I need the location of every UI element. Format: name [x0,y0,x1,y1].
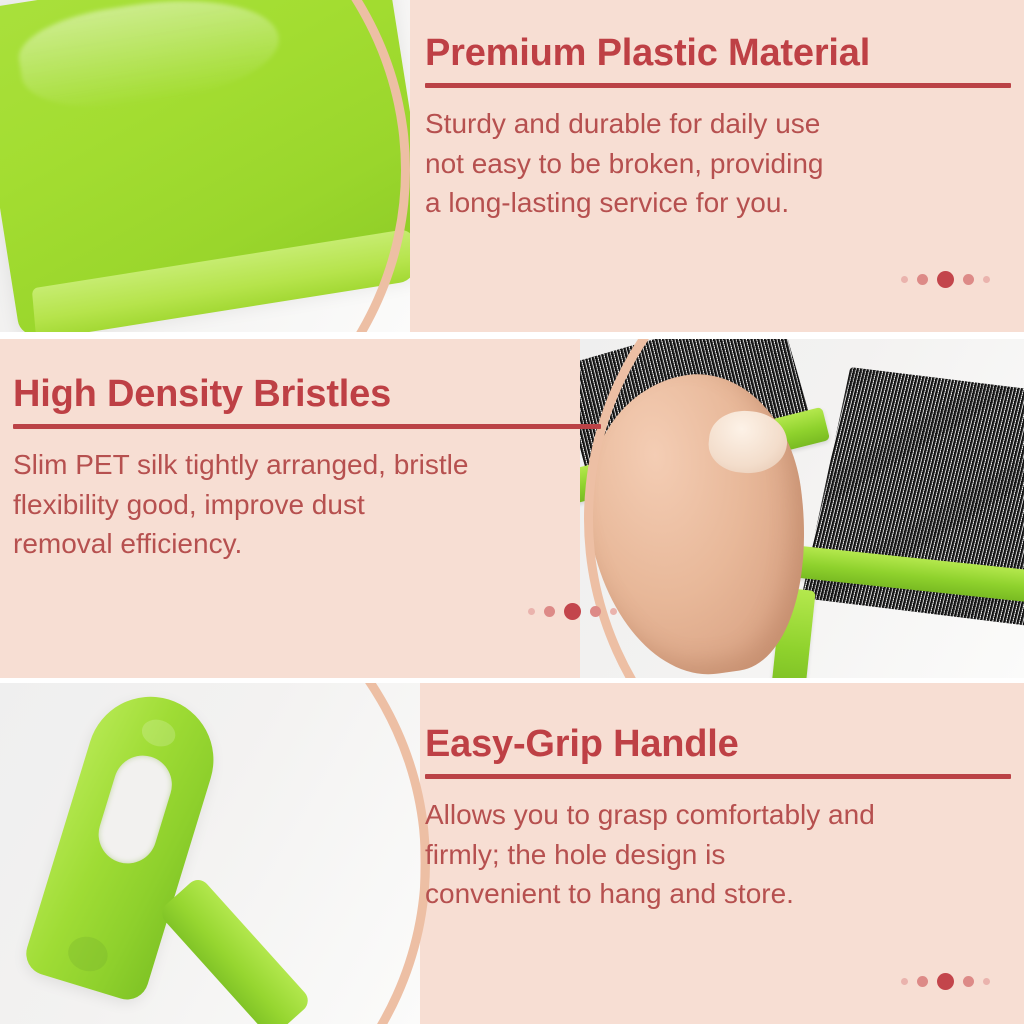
product-photo-bristles [580,339,1024,678]
feature-panel-high-density-bristles: High Density Bristles Slim PET silk tigh… [0,339,1024,678]
feature-panel-premium-plastic-material: Premium Plastic Material Sturdy and dura… [0,0,1024,332]
handle-bottom-stud [64,932,112,976]
dot-4 [963,976,974,987]
feature-description: Slim PET silk tightly arranged, bristle … [13,445,603,564]
feature-description: Allows you to grasp comfortably and firm… [425,795,1013,914]
dot-1 [528,608,535,615]
feature-description: Sturdy and durable for daily use not eas… [425,104,1013,223]
feature-text-block: High Density Bristles Slim PET silk tigh… [13,375,603,564]
feature-text-block: Easy-Grip Handle Allows you to grasp com… [425,725,1013,914]
product-feature-infographic: Premium Plastic Material Sturdy and dura… [0,0,1024,1024]
dot-1 [901,978,908,985]
dustpan-gloss-highlight [13,0,286,122]
feature-heading: Premium Plastic Material [425,34,1013,74]
brush-illustration [580,339,1024,678]
dot-indicator [901,271,990,288]
heading-underline [13,424,601,429]
dot-2 [544,606,555,617]
dustpan-illustration [0,0,410,332]
dot-4 [590,606,601,617]
hanging-hole [91,748,179,870]
dot-5 [983,276,990,283]
product-photo-dustpan [0,0,410,332]
dot-1 [901,276,908,283]
dot-3-active [937,973,954,990]
feature-heading: Easy-Grip Handle [425,725,1013,765]
handle-top-stud [139,716,179,751]
dot-3-active [937,271,954,288]
dot-2 [917,976,928,987]
feature-heading: High Density Bristles [13,375,603,415]
dot-4 [963,274,974,285]
dot-indicator [528,603,617,620]
dot-indicator [901,973,990,990]
feature-text-block: Premium Plastic Material Sturdy and dura… [425,34,1013,223]
product-photo-handle [0,683,420,1024]
heading-underline [425,774,1011,779]
dot-2 [917,274,928,285]
dot-5 [983,978,990,985]
dot-3-active [564,603,581,620]
dot-5 [610,608,617,615]
feature-panel-easy-grip-handle: Easy-Grip Handle Allows you to grasp com… [0,683,1024,1024]
heading-underline [425,83,1011,88]
